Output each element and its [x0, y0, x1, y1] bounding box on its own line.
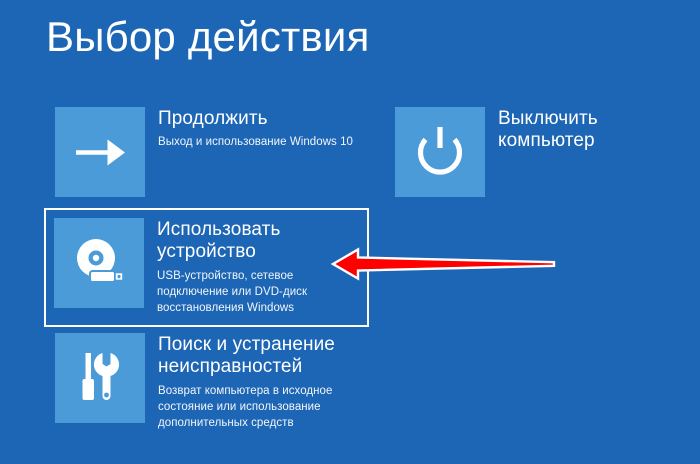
option-continue[interactable]: Продолжить Выход и использование Windows… [55, 107, 355, 197]
option-continue-description: Выход и использование Windows 10 [158, 134, 353, 150]
recovery-options-screen: Выбор действия Продолжить Выход и исполь… [0, 0, 700, 464]
option-use-device-text: Использовать устройство USB-устройство, … [157, 218, 359, 317]
option-use-device[interactable]: Использовать устройство USB-устройство, … [44, 208, 369, 327]
option-use-device-description: USB-устройство, сетевое подключение или … [157, 268, 359, 317]
option-shutdown-heading: Выключить компьютер [498, 108, 685, 153]
option-use-device-tile [54, 218, 144, 308]
option-continue-tile [55, 107, 145, 197]
option-troubleshoot-description: Возврат компьютера в исходное состояние … [158, 383, 365, 432]
option-shutdown[interactable]: Выключить компьютер [395, 107, 685, 197]
option-shutdown-tile [395, 107, 485, 197]
option-continue-text: Продолжить Выход и использование Windows… [158, 107, 353, 151]
option-troubleshoot-heading: Поиск и устранение неисправностей [158, 334, 365, 379]
option-use-device-heading: Использовать устройство [157, 219, 359, 264]
option-troubleshoot[interactable]: Поиск и устранение неисправностей Возвра… [55, 333, 365, 432]
option-troubleshoot-text: Поиск и устранение неисправностей Возвра… [158, 333, 365, 432]
option-continue-heading: Продолжить [158, 108, 353, 130]
option-troubleshoot-tile [55, 333, 145, 423]
option-shutdown-text: Выключить компьютер [498, 107, 685, 157]
page-title: Выбор действия [46, 14, 370, 60]
